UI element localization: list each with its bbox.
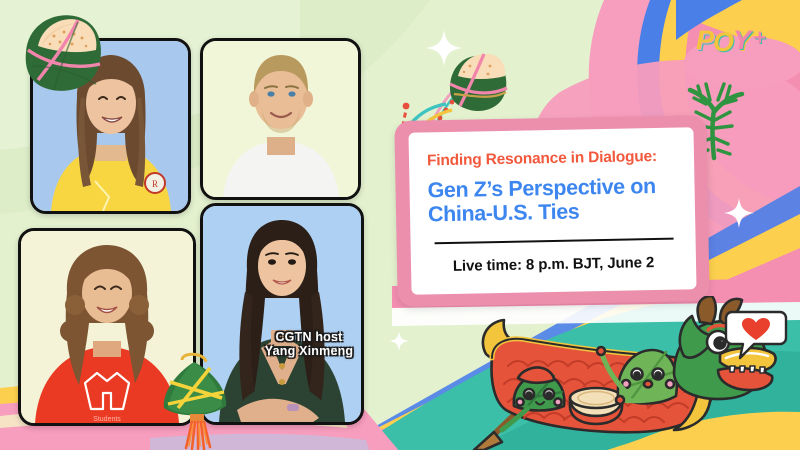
title-kicker: Finding Resonance in Dialogue: <box>427 148 678 170</box>
live-time-text: Live time: 8 p.m. BJT, June 2 <box>427 254 680 276</box>
svg-text:O: O <box>713 27 734 57</box>
title-headline: Gen Z’s Perspective on China-U.S. Ties <box>427 174 679 227</box>
headline-line-1: Gen Z’s Perspective on <box>427 174 678 203</box>
photo-participant-1[interactable]: R <box>30 38 191 214</box>
headline-line-2: China-U.S. Ties <box>428 198 679 227</box>
svg-text:R: R <box>152 179 158 189</box>
svg-text:+: + <box>753 25 766 50</box>
title-divider-rule <box>435 238 674 245</box>
svg-text:Y: Y <box>733 25 754 55</box>
photo-participant-2[interactable] <box>200 38 361 200</box>
poy-plus-logo: P P P O O O Y Y Y + + <box>694 18 786 64</box>
title-card: Finding Resonance in Dialogue: Gen Z’s P… <box>396 118 708 304</box>
participant-photo-grid: R <box>0 0 380 450</box>
promo-graphic-canvas: R <box>0 0 800 450</box>
title-card-surface: Finding Resonance in Dialogue: Gen Z’s P… <box>408 127 696 294</box>
photo-participant-3[interactable]: Students <box>18 228 196 426</box>
photo-host-yang-xinmeng[interactable] <box>200 203 364 425</box>
svg-text:Students: Students <box>93 416 121 423</box>
